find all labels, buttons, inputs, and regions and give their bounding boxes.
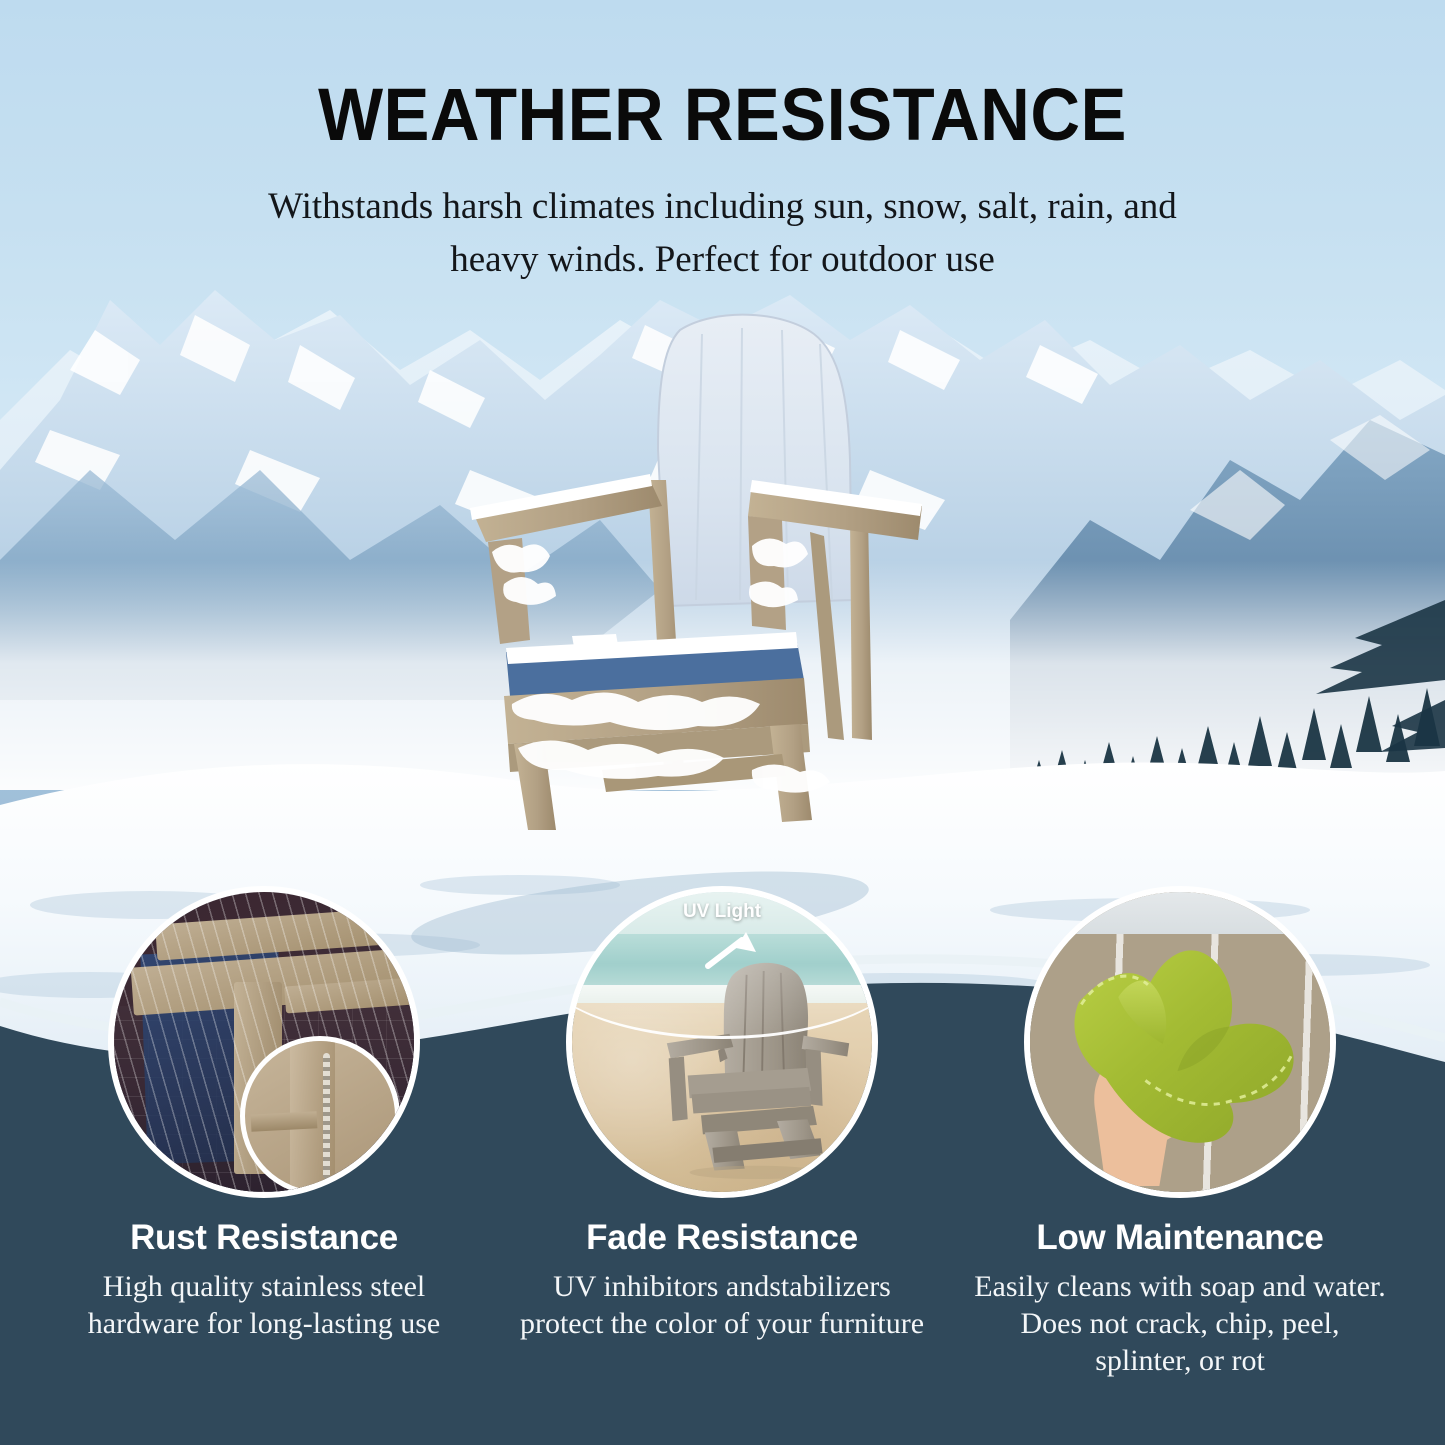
beach-chair-illustration: UV Light <box>572 892 872 1192</box>
cleaning-cloth-illustration <box>1030 892 1330 1192</box>
feature-description: High quality stainless steel hardware fo… <box>54 1268 474 1342</box>
feature-title: Rust Resistance <box>54 1218 474 1258</box>
feature-caption-rust-resistance: Rust Resistance High quality stainless s… <box>54 1218 474 1342</box>
microfiber-cloth-icon <box>1048 928 1312 1150</box>
feature-title: Fade Resistance <box>512 1218 932 1258</box>
feature-image-rust-resistance <box>108 886 420 1198</box>
uv-arrow-icon <box>704 926 764 970</box>
stainless-chain-icon <box>323 1053 330 1179</box>
header: WEATHER RESISTANCE Withstands harsh clim… <box>0 0 1445 286</box>
rain-hardware-illustration <box>114 892 414 1192</box>
page-title: WEATHER RESISTANCE <box>51 0 1395 157</box>
feature-title: Low Maintenance <box>970 1218 1390 1258</box>
feature-image-fade-resistance: UV Light <box>566 886 878 1198</box>
uv-light-label: UV Light <box>683 901 761 923</box>
page-subtitle: Withstands harsh climates including sun,… <box>223 157 1223 286</box>
feature-description: Easily cleans with soap and water. Does … <box>970 1268 1390 1380</box>
feature-caption-fade-resistance: Fade Resistance UV inhibitors andstabili… <box>512 1218 932 1342</box>
inset-bracket <box>251 1111 318 1131</box>
feature-image-low-maintenance <box>1024 886 1336 1198</box>
infographic-poster: WEATHER RESISTANCE Withstands harsh clim… <box>0 0 1445 1445</box>
hero-chair <box>452 300 952 830</box>
feature-caption-low-maintenance: Low Maintenance Easily cleans with soap … <box>970 1218 1390 1380</box>
hardware-chain-inset <box>240 1036 400 1196</box>
feature-description: UV inhibitors andstabilizers protect the… <box>512 1268 932 1342</box>
